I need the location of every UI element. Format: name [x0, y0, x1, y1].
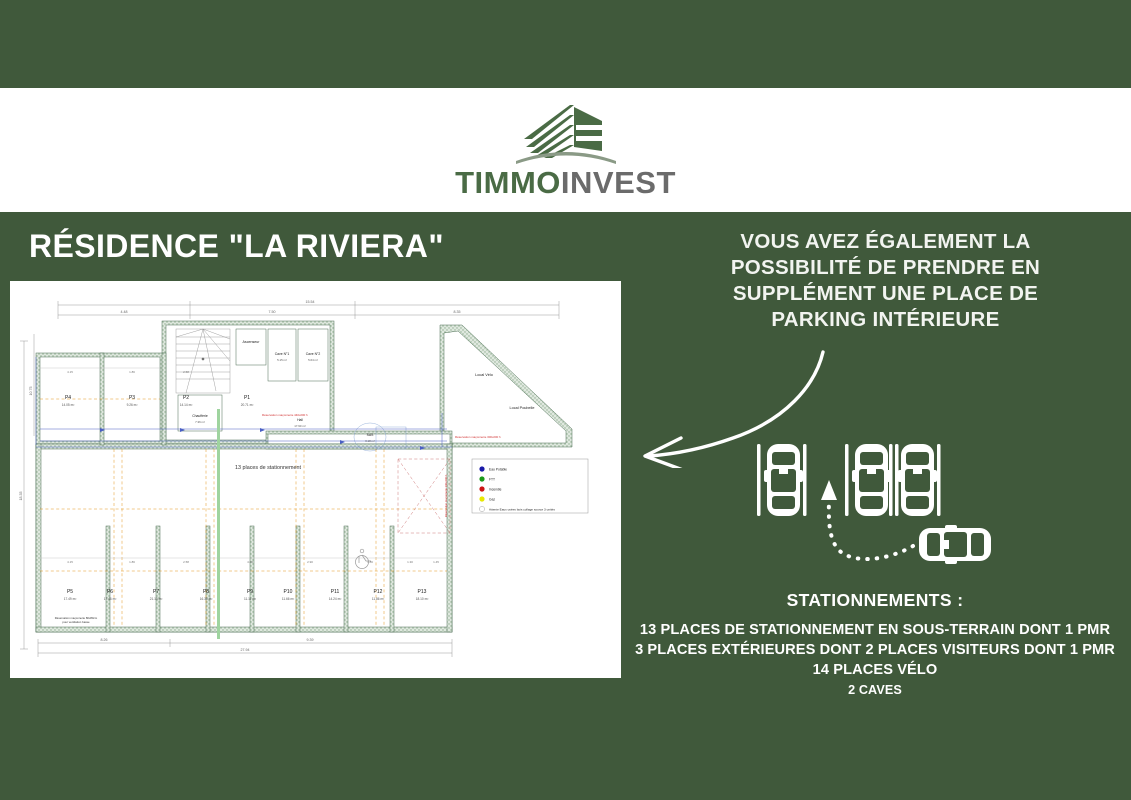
car-top-view-icon	[898, 444, 937, 516]
plan-label-P9: P9	[247, 589, 253, 595]
plan-label-P4: P4	[65, 395, 71, 401]
plan-area-P4: 14.05 m²	[62, 403, 75, 407]
dim-top-mid: 7.50	[269, 310, 276, 314]
svg-text:2.58: 2.58	[183, 560, 189, 564]
plan-label-local-poubelle: Local Poubelle	[510, 406, 535, 410]
plan-area-hall: 17.90 m²	[294, 424, 305, 428]
plan-area-cave2: 5.64 m²	[308, 358, 318, 362]
plan-label-P3: P3	[129, 395, 135, 401]
plan-area-sas: 3.18 m²	[365, 439, 375, 443]
plan-area-P1: 20.71 m²	[241, 403, 254, 407]
plan-area-P9: 11.11 m²	[244, 597, 256, 601]
plan-area-cave1: 5.15 m²	[277, 358, 287, 362]
plan-area-P7: 21.13 m²	[150, 597, 163, 601]
dim-top-overall: 15.54	[306, 300, 315, 304]
plan-area-P12: 11.86 m²	[372, 597, 384, 601]
building-logo-icon	[512, 103, 620, 165]
plan-label-P10: P10	[284, 589, 293, 595]
brand-name-part2: INVEST	[561, 165, 676, 200]
parking-info-line-3: 14 PLACES VÉLO	[630, 660, 1120, 680]
plan-area-P3: 9.26 m²	[127, 403, 138, 407]
headline-line-3: SUPPLÉMENT UNE PLACE DE	[651, 281, 1120, 307]
plan-label-P8: P8	[203, 589, 209, 595]
plan-caption-places: 13 places de stationnement	[235, 465, 301, 471]
svg-text:1.30: 1.30	[407, 560, 413, 564]
plan-label-cave2: Cave N°2	[306, 352, 321, 356]
svg-text:4.15: 4.15	[67, 370, 73, 374]
brand-name-part1: TIMMO	[455, 165, 561, 200]
floor-plan-panel[interactable]: 15.54 4.48 7.50 8.35 18.35 10.75	[10, 281, 621, 678]
svg-text:2.58: 2.58	[183, 370, 189, 374]
plan-label-P6: P6	[107, 589, 113, 595]
plan-label-P13: P13	[418, 589, 427, 595]
legend-label-0: Eau Potable	[489, 468, 507, 472]
svg-text:1.45: 1.45	[433, 560, 439, 564]
brand-wordmark: TIMMOINVEST	[455, 167, 676, 198]
headline: VOUS AVEZ ÉGALEMENT LA POSSIBILITÉ DE PR…	[651, 229, 1120, 333]
dim-top-left: 4.48	[121, 310, 128, 314]
dim-left-height: 18.35	[19, 492, 23, 501]
headline-line-2: POSSIBILITÉ DE PRENDRE EN	[651, 255, 1120, 281]
headline-line-1: VOUS AVEZ ÉGALEMENT LA	[651, 229, 1120, 255]
parking-info-block: STATIONNEMENTS : 13 PLACES DE STATIONNEM…	[630, 590, 1120, 700]
plan-note-vertical: Réservation maçonnerie 300x200 h	[444, 474, 448, 517]
car-top-view-icon	[852, 444, 891, 516]
plan-label-local-velo: Local Vélo	[475, 373, 493, 377]
parking-info-line-2: 3 PLACES EXTÉRIEURES DONT 2 PLACES VISIT…	[630, 640, 1120, 660]
page-title: RÉSIDENCE "LA RIVIERA"	[29, 228, 444, 265]
car-top-view-icon	[764, 444, 803, 516]
parking-info-line-1: 13 PLACES DE STATIONNEMENT EN SOUS-TERRA…	[630, 620, 1120, 640]
plan-label-P12: P12	[374, 589, 383, 595]
parking-info-line-4: 2 CAVES	[630, 680, 1120, 700]
plan-note-1: Réservation maçonnerie 440x200 h	[262, 413, 308, 417]
svg-text:1.86: 1.86	[129, 370, 135, 374]
car-top-view-icon	[919, 525, 991, 564]
plan-label-hall: Hall	[297, 418, 303, 422]
legend-label-1: FTT	[489, 478, 495, 482]
plan-note-2: Réservation maçonnerie 300x200 h	[455, 435, 501, 439]
parking-cars-illustration	[745, 436, 1005, 571]
dim-left-height2: 10.75	[29, 387, 33, 396]
plan-label-P7: P7	[153, 589, 159, 595]
plan-area-chaufferie: 7.36 m²	[195, 420, 205, 424]
plan-area-P11: 14.24 m²	[329, 597, 342, 601]
parking-info-title: STATIONNEMENTS :	[630, 590, 1120, 611]
dim-bottom-left: 8.26	[101, 638, 108, 642]
headline-line-4: PARKING INTÉRIEURE	[651, 307, 1120, 333]
dim-top-right: 8.35	[454, 310, 461, 314]
plan-area-P10: 11.66 m²	[282, 597, 294, 601]
legend-label-3: Gaz	[489, 498, 495, 502]
plan-area-P8: 16.35 m²	[200, 597, 213, 601]
plan-label-P1: P1	[244, 395, 250, 401]
brand-header: TIMMOINVEST	[0, 88, 1131, 212]
legend-label-2: Incendie	[489, 488, 502, 492]
plan-area-P6: 17.46 m²	[104, 597, 117, 601]
plan-label-P2: P2	[183, 395, 189, 401]
dim-bottom-right: 9.39	[307, 638, 314, 642]
legend-label-4: Attente Eaux usées bois collage source 3…	[489, 508, 555, 512]
plan-label-sas: SAS	[367, 433, 375, 437]
floor-plan-drawing: 15.54 4.48 7.50 8.35 18.35 10.75	[10, 281, 621, 678]
plan-label-P5: P5	[67, 589, 73, 595]
plan-area-P13: 18.10 m²	[416, 597, 429, 601]
svg-text:2.90: 2.90	[307, 560, 313, 564]
plan-legend: Eau Potable FTT Incendie Gaz Attente Eau…	[472, 459, 588, 513]
svg-text:4.00: 4.00	[247, 560, 253, 564]
plan-label-P11: P11	[331, 589, 340, 595]
svg-text:pour ventilation basse: pour ventilation basse	[62, 620, 90, 624]
plan-area-P5: 17.49 m²	[64, 597, 77, 601]
svg-text:4.15: 4.15	[67, 560, 73, 564]
svg-text:1.86: 1.86	[367, 560, 373, 564]
plan-label-ascenseur: Ascenseur	[243, 340, 261, 344]
plan-label-chaufferie: Chaufferie	[192, 414, 208, 418]
svg-text:1.86: 1.86	[129, 560, 135, 564]
plan-label-cave1: Cave N°1	[275, 352, 290, 356]
slide-root: TIMMOINVEST RÉSIDENCE "LA RIVIERA"	[0, 0, 1131, 800]
dim-bottom-mid: 27.94	[241, 648, 250, 652]
plan-area-P2: 14.14 m²	[180, 403, 193, 407]
